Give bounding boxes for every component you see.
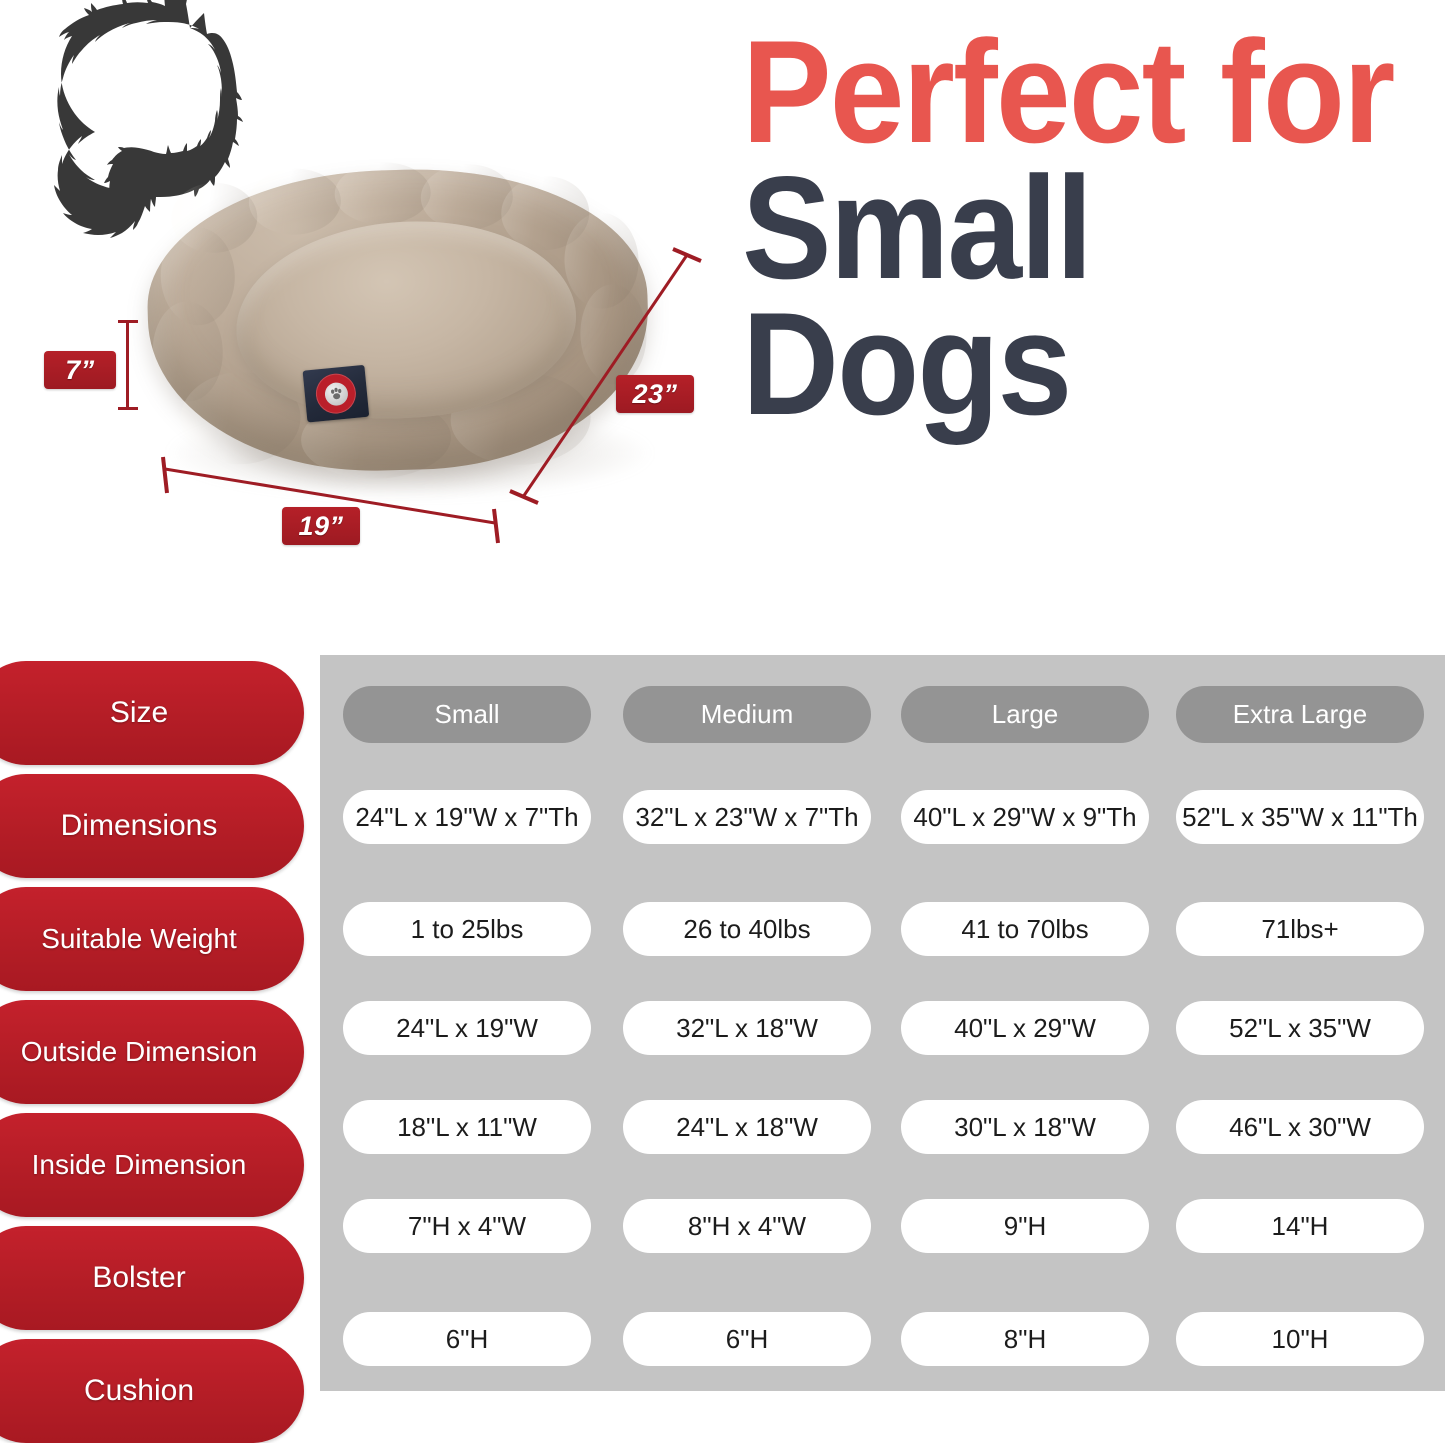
column-header-large: Large	[901, 686, 1149, 743]
height-measure-line	[126, 320, 129, 410]
column-header-small: Small	[343, 686, 591, 743]
hero-section: 7” 23” 19” Perfect for Small Dogs	[0, 0, 1445, 640]
table-cell: 30"L x 18"W	[901, 1100, 1149, 1154]
table-cell: 26 to 40lbs	[623, 902, 871, 956]
table-cell: 18"L x 11"W	[343, 1100, 591, 1154]
table-cell: 8"H x 4"W	[623, 1199, 871, 1253]
table-cell: 7"H x 4"W	[343, 1199, 591, 1253]
table-cell: 9"H	[901, 1199, 1149, 1253]
row-label-outside-dimension: Outside Dimension	[0, 1000, 304, 1104]
brand-logo-tag	[303, 365, 370, 423]
table-cell: 52"L x 35"W x 11"Th	[1176, 790, 1424, 844]
table-cell: 71lbs+	[1176, 902, 1424, 956]
row-label-size: Size	[0, 661, 304, 765]
table-cell: 1 to 25lbs	[343, 902, 591, 956]
page-title: Perfect for Small Dogs	[742, 24, 1442, 431]
table-cell: 14"H	[1176, 1199, 1424, 1253]
length-callout-label: 19”	[282, 507, 360, 545]
row-label-suitable-weight: Suitable Weight	[0, 887, 304, 991]
title-line-perfect-for: Perfect for	[742, 24, 1386, 160]
column-header-extra-large: Extra Large	[1176, 686, 1424, 743]
table-cell: 32"L x 23"W x 7"Th	[623, 790, 871, 844]
table-cell: 40"L x 29"W	[901, 1001, 1149, 1055]
table-cell: 24"L x 18"W	[623, 1100, 871, 1154]
title-line-dogs: Dogs	[742, 296, 1386, 432]
column-header-medium: Medium	[623, 686, 871, 743]
row-label-inside-dimension: Inside Dimension	[0, 1113, 304, 1217]
table-cell: 52"L x 35"W	[1176, 1001, 1424, 1055]
table-cell: 6"H	[623, 1312, 871, 1366]
table-cell: 40"L x 29"W x 9"Th	[901, 790, 1149, 844]
table-cell: 46"L x 30"W	[1176, 1100, 1424, 1154]
row-label-dimensions: Dimensions	[0, 774, 304, 878]
title-line-small: Small	[742, 160, 1386, 296]
table-cell: 41 to 70lbs	[901, 902, 1149, 956]
width-callout-label: 23”	[616, 375, 694, 413]
brand-logo-ring	[314, 372, 358, 416]
height-callout-label: 7”	[44, 351, 116, 389]
table-cell: 24"L x 19"W x 7"Th	[343, 790, 591, 844]
row-label-cushion: Cushion	[0, 1339, 304, 1443]
table-cell: 10"H	[1176, 1312, 1424, 1366]
table-cell: 8"H	[901, 1312, 1149, 1366]
table-cell: 24"L x 19"W	[343, 1001, 591, 1055]
table-cell: 32"L x 18"W	[623, 1001, 871, 1055]
height-measure-cap-top	[118, 320, 138, 323]
row-label-bolster: Bolster	[0, 1226, 304, 1330]
table-cell: 6"H	[343, 1312, 591, 1366]
height-measure-cap-bottom	[118, 407, 138, 410]
paw-print-icon	[323, 381, 348, 406]
spec-table-label-column: Size Dimensions Suitable Weight Outside …	[0, 655, 320, 1391]
